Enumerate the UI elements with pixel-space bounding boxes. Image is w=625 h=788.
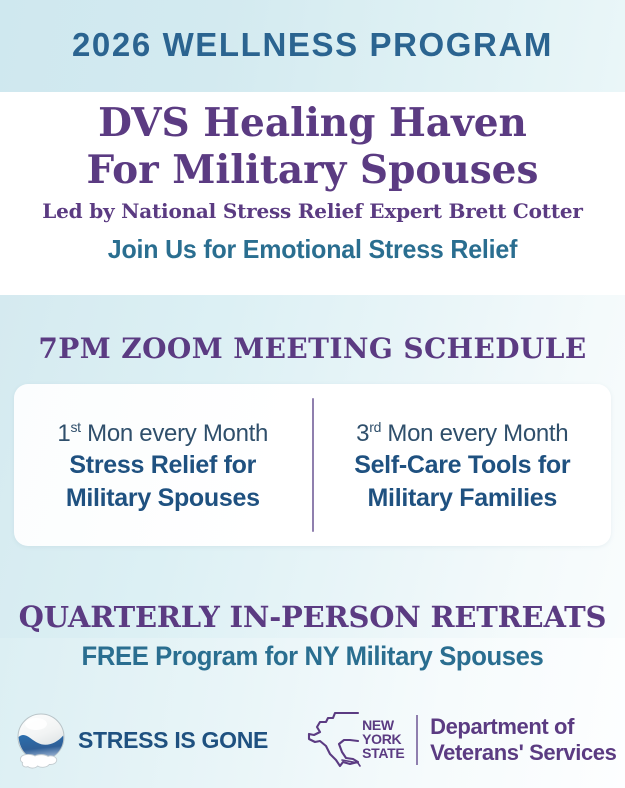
schedule-when-first: 1st Mon every Month bbox=[57, 419, 268, 449]
wave-circle-logo-icon bbox=[14, 711, 68, 769]
schedule-when-third: 3rd Mon every Month bbox=[356, 419, 568, 449]
new-york-state-outline-icon: NEW YORK STATE bbox=[306, 708, 416, 772]
schedule-ordinal-first: 1 bbox=[57, 420, 70, 447]
schedule-when-rest-first: Mon every Month bbox=[81, 420, 268, 447]
schedule-topic-first-line-2: Military Spouses bbox=[66, 482, 260, 515]
schedule-topic-first-line-1: Stress Relief for bbox=[69, 449, 256, 482]
logo-divider bbox=[416, 715, 418, 765]
new-york-state-wordmark: NEW YORK STATE bbox=[362, 718, 404, 760]
nys-line-state: STATE bbox=[362, 746, 404, 760]
hero-join-text: Join Us for Emotional Stress Relief bbox=[13, 233, 613, 265]
new-york-state-dvs-logo: NEW YORK STATE Department of Veterans' S… bbox=[306, 708, 616, 772]
retreats-subheading: FREE Program for NY Military Spouses bbox=[16, 641, 610, 672]
nys-line-york: YORK bbox=[362, 732, 404, 746]
dvs-line-1: Department of bbox=[430, 714, 616, 740]
wellness-program-flyer: 2026 WELLNESS PROGRAM DVS Healing Haven … bbox=[0, 0, 625, 788]
nys-line-new: NEW bbox=[362, 718, 404, 732]
retreats-heading: QUARTERLY IN-PERSON RETREATS bbox=[0, 600, 625, 634]
footer-logos: STRESS IS GONE NEW YORK STATE Department… bbox=[0, 700, 625, 780]
page-title: 2026 WELLNESS PROGRAM bbox=[0, 26, 625, 64]
schedule-when-rest-third: Mon every Month bbox=[381, 420, 568, 447]
schedule-ordinal-suffix-first: st bbox=[70, 419, 80, 435]
schedule-column-first-monday: 1st Mon every Month Stress Relief for Mi… bbox=[14, 384, 312, 546]
hero-section: DVS Healing Haven For Military Spouses L… bbox=[0, 100, 625, 265]
schedule-card: 1st Mon every Month Stress Relief for Mi… bbox=[14, 384, 611, 546]
dvs-line-2: Veterans' Services bbox=[430, 740, 616, 766]
stress-is-gone-logo: STRESS IS GONE bbox=[14, 711, 268, 769]
stress-is-gone-label: STRESS IS GONE bbox=[78, 727, 268, 754]
schedule-heading: 7PM ZOOM MEETING SCHEDULE bbox=[0, 332, 625, 365]
hero-led-by-text: Led by National Stress Relief Expert Bre… bbox=[0, 198, 625, 224]
schedule-ordinal-suffix-third: rd bbox=[369, 419, 381, 435]
hero-title-line-2: For Military Spouses bbox=[0, 147, 625, 194]
schedule-column-third-monday: 3rd Mon every Month Self-Care Tools for … bbox=[314, 384, 612, 546]
department-of-veterans-services-label: Department of Veterans' Services bbox=[430, 714, 616, 766]
schedule-topic-third-line-1: Self-Care Tools for bbox=[354, 449, 570, 482]
hero-title-line-1: DVS Healing Haven bbox=[0, 100, 625, 147]
schedule-ordinal-third: 3 bbox=[356, 420, 369, 447]
schedule-topic-third-line-2: Military Families bbox=[368, 482, 557, 515]
